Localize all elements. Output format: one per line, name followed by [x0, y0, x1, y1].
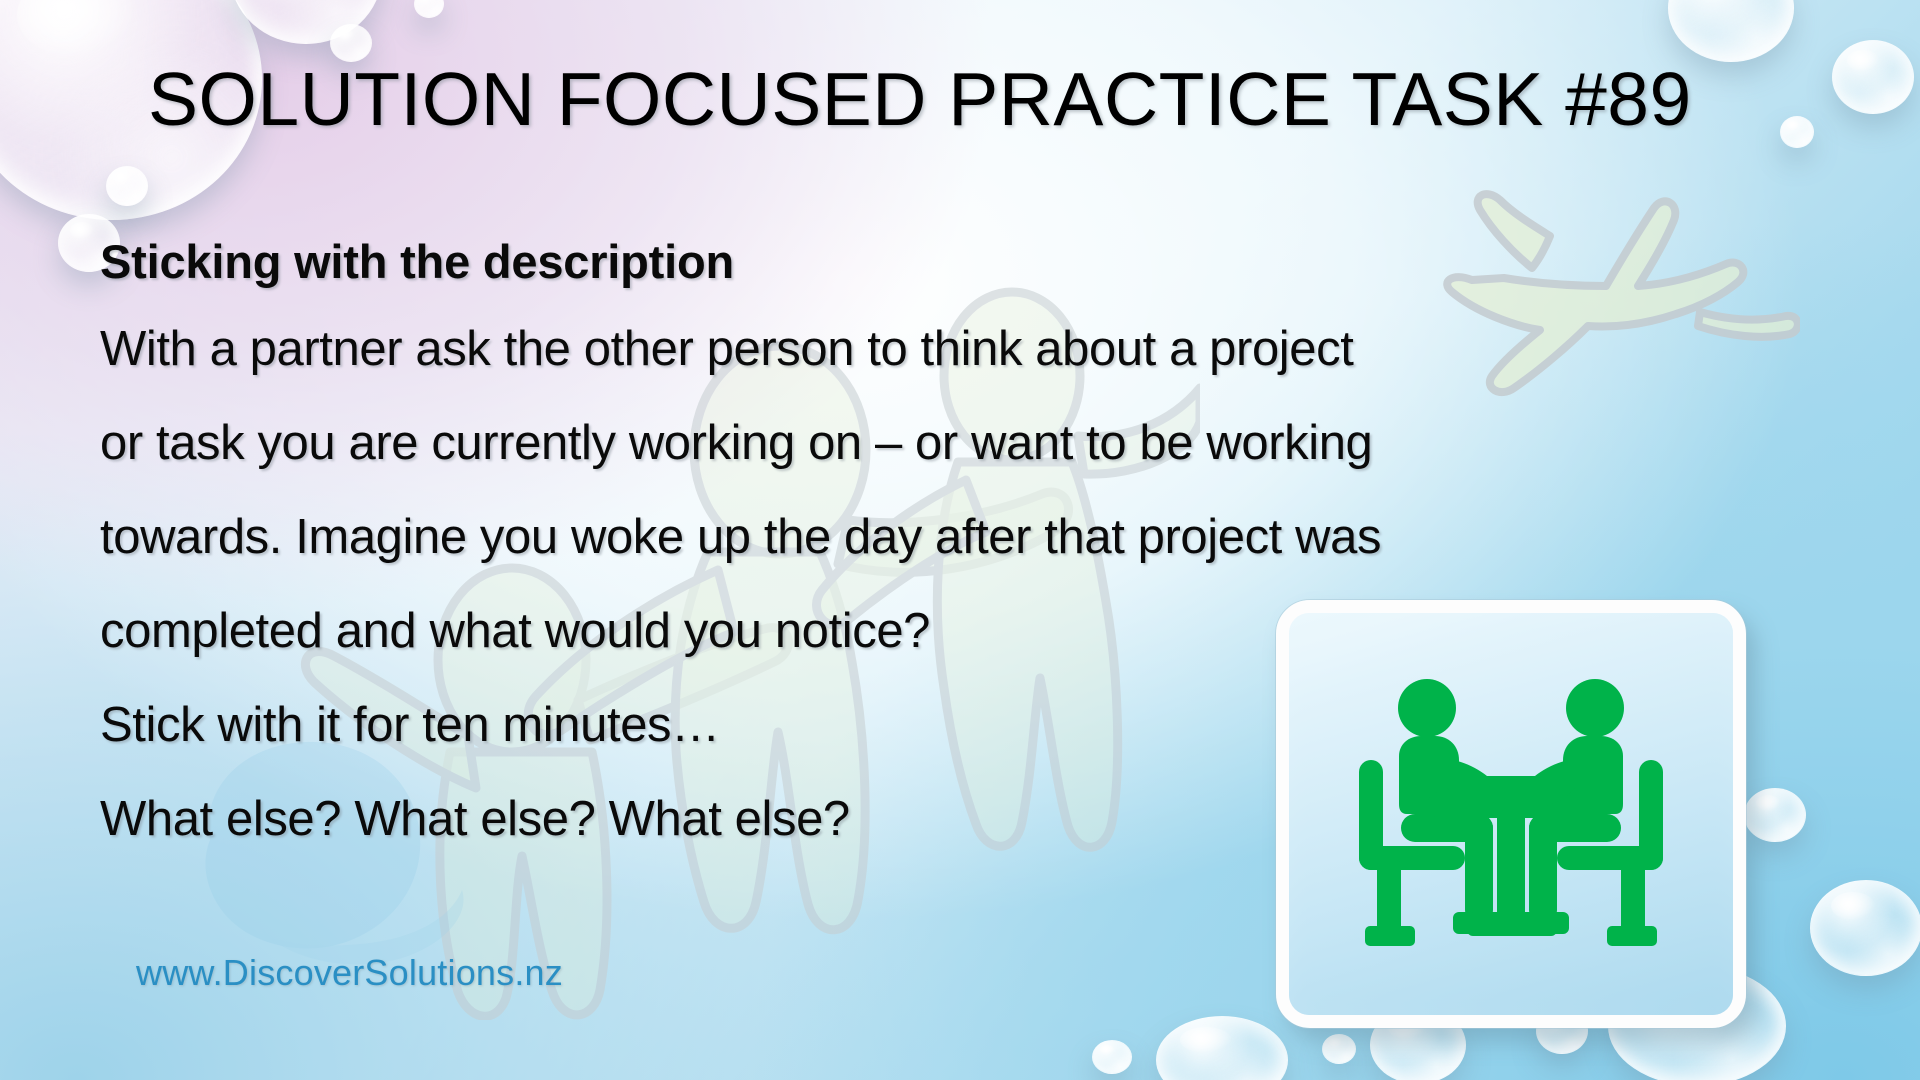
bubble-decoration [106, 166, 148, 206]
bubble-decoration [1322, 1034, 1356, 1064]
bubble-decoration [1668, 0, 1794, 62]
body-line: towards. Imagine you woke up the day aft… [100, 490, 1890, 584]
footer-website-link[interactable]: www.DiscoverSolutions.nz [136, 952, 563, 994]
bubble-decoration [1092, 1040, 1132, 1074]
body-subheading: Sticking with the description [100, 222, 1890, 302]
slide-canvas: SOLUTION FOCUSED PRACTICE TASK #89 Stick… [0, 0, 1920, 1080]
meeting-icon-card-inner [1289, 613, 1733, 1015]
two-people-at-table-icon [1331, 664, 1691, 964]
bubble-decoration [230, 0, 382, 44]
body-line: With a partner ask the other person to t… [100, 302, 1890, 396]
meeting-icon-card [1276, 600, 1746, 1028]
slide-title: SOLUTION FOCUSED PRACTICE TASK #89 [148, 62, 1828, 137]
bubble-decoration [1156, 1016, 1288, 1080]
bubble-decoration [1810, 880, 1920, 976]
body-line: or task you are currently working on – o… [100, 396, 1890, 490]
bubble-decoration [1832, 40, 1914, 114]
bubble-decoration [414, 0, 444, 18]
